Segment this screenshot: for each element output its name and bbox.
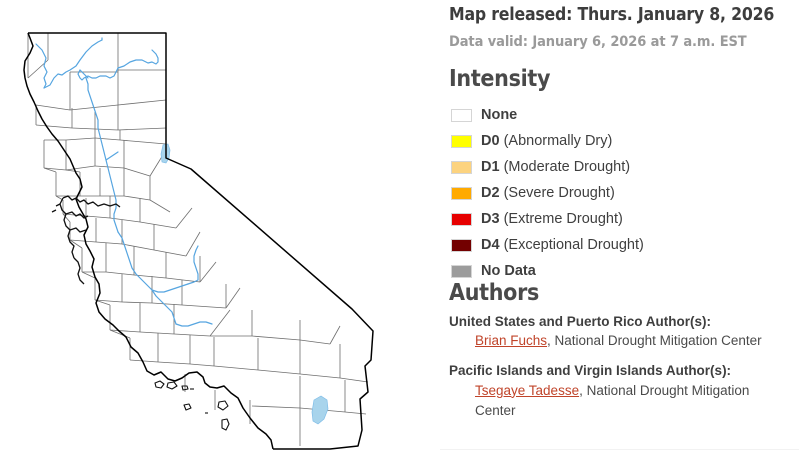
legend-description: (Extreme Drought): [500, 211, 623, 227]
legend-description: (Abnormally Dry): [500, 133, 613, 149]
legend-swatch: [451, 239, 472, 252]
legend-description: (Severe Drought): [500, 185, 615, 201]
author-region-label: United States and Puerto Rico Author(s):: [449, 313, 789, 331]
legend-code: D3: [481, 211, 500, 227]
legend-row[interactable]: D1 (Moderate Drought): [451, 156, 781, 178]
author-link[interactable]: Tsegaye Tadesse: [475, 383, 579, 398]
legend-label: D2 (Severe Drought): [481, 186, 615, 201]
legend-row[interactable]: D2 (Severe Drought): [451, 182, 781, 204]
legend-row[interactable]: No Data: [451, 260, 781, 282]
legend-swatch: [451, 161, 472, 174]
author-region-label: Pacific Islands and Virgin Islands Autho…: [449, 362, 789, 380]
map-info-panel: Map released: Thurs. January 8, 2026 Dat…: [440, 0, 799, 458]
legend-swatch: [451, 213, 472, 226]
footer-divider: [440, 449, 799, 450]
legend-row[interactable]: None: [451, 104, 781, 126]
intensity-legend: NoneD0 (Abnormally Dry)D1 (Moderate Drou…: [451, 104, 781, 286]
legend-label: D4 (Exceptional Drought): [481, 238, 644, 253]
author-affiliation: , National Drought Mitigation Center: [547, 333, 762, 348]
legend-code: D0: [481, 133, 500, 149]
map-released-title: Map released: Thurs. January 8, 2026: [449, 5, 774, 25]
legend-row[interactable]: D3 (Extreme Drought): [451, 208, 781, 230]
legend-label: No Data: [481, 264, 536, 279]
legend-code: D4: [481, 237, 500, 253]
map-state-fill: [24, 33, 373, 449]
legend-row[interactable]: D4 (Exceptional Drought): [451, 234, 781, 256]
legend-code: D1: [481, 159, 500, 175]
legend-code: No Data: [481, 263, 536, 279]
data-valid-subtitle: Data valid: January 6, 2026 at 7 a.m. ES…: [449, 34, 747, 50]
author-entry: Tsegaye Tadesse, National Drought Mitiga…: [449, 381, 789, 422]
author-link[interactable]: Brian Fuchs: [475, 333, 547, 348]
intensity-heading: Intensity: [449, 66, 550, 92]
legend-label: D3 (Extreme Drought): [481, 212, 623, 227]
legend-swatch: [451, 265, 472, 278]
california-drought-map[interactable]: [0, 0, 440, 458]
legend-swatch: [451, 109, 472, 122]
legend-label: None: [481, 108, 517, 123]
legend-swatch: [451, 187, 472, 200]
author-group: United States and Puerto Rico Author(s):…: [449, 313, 789, 351]
legend-description: (Moderate Drought): [500, 159, 631, 175]
legend-label: D1 (Moderate Drought): [481, 160, 630, 175]
legend-code: D2: [481, 185, 500, 201]
author-group: Pacific Islands and Virgin Islands Autho…: [449, 362, 789, 421]
legend-row[interactable]: D0 (Abnormally Dry): [451, 130, 781, 152]
drought-monitor-page: Map released: Thurs. January 8, 2026 Dat…: [0, 0, 799, 458]
author-entry: Brian Fuchs, National Drought Mitigation…: [449, 331, 789, 351]
authors-list: United States and Puerto Rico Author(s):…: [449, 313, 789, 432]
legend-description: (Exceptional Drought): [500, 237, 644, 253]
authors-heading: Authors: [449, 280, 539, 306]
legend-swatch: [451, 135, 472, 148]
legend-code: None: [481, 107, 517, 123]
legend-label: D0 (Abnormally Dry): [481, 134, 612, 149]
map-svg: [0, 0, 440, 458]
